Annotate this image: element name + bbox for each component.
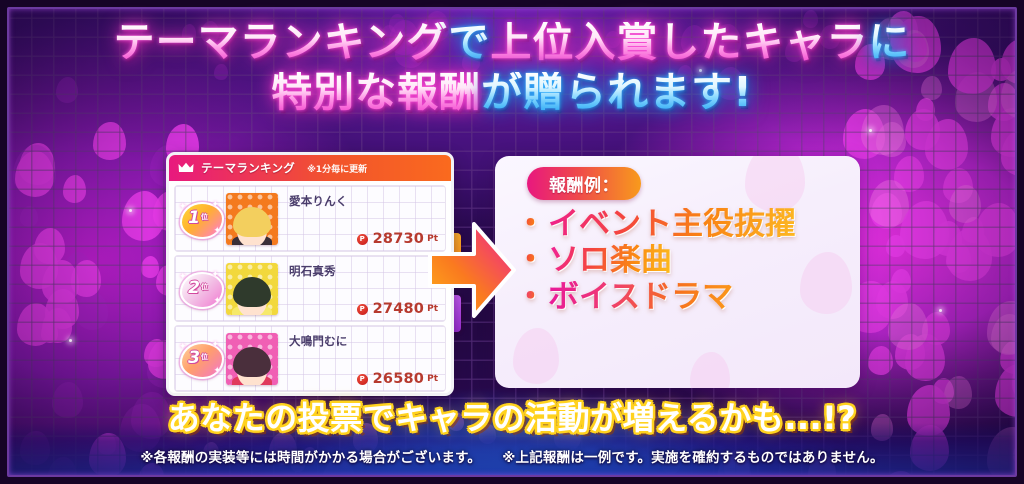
- reward-item-label: ソロ楽曲: [548, 244, 672, 277]
- character-name: 明石真秀: [278, 263, 445, 279]
- sparkle-icon: [69, 339, 72, 342]
- thumbnail-hair: [233, 207, 271, 237]
- sparkle-icon: [939, 309, 942, 312]
- rank-suffix: 位: [201, 352, 208, 362]
- points-group: P27480Pt: [357, 301, 438, 317]
- ranking-card-header: テーマランキング ※1分毎に更新: [169, 155, 451, 181]
- rank-suffix: 位: [201, 282, 208, 292]
- character-thumbnail[interactable]: [226, 263, 278, 315]
- reward-item-label: イベント主役抜擢: [548, 208, 796, 241]
- rank-number: 1: [188, 210, 200, 227]
- bullet-icon: ・: [515, 244, 546, 277]
- list-item: ・イベント主役抜擢: [515, 208, 850, 241]
- sparkle-icon: ✦: [211, 270, 219, 280]
- sparkle-icon: ✦: [213, 296, 221, 306]
- sparkle-icon: [869, 129, 872, 132]
- rank-badge: ✦✦✦3位: [177, 339, 223, 379]
- table-row[interactable]: ✦✦✦2位明石真秀P27480Pt: [174, 255, 446, 322]
- rank-badge: ✦✦✦2位: [177, 269, 223, 309]
- rank-number: 3: [188, 350, 200, 367]
- sparkle-icon: ✦: [179, 202, 187, 212]
- ranking-update-note: ※1分毎に更新: [307, 162, 367, 175]
- reward-example-label: 報酬例：: [549, 171, 619, 196]
- p-coin-icon: P: [357, 304, 368, 315]
- sparkle-icon: ✦: [213, 366, 221, 376]
- character-name: 大鳴門むに: [278, 333, 445, 349]
- footer-note-1: ※各報酬の実装等には時間がかかる場合がございます。: [140, 446, 481, 466]
- character-thumbnail[interactable]: [226, 193, 278, 245]
- crown-icon: [178, 162, 194, 174]
- bullet-icon: ・: [515, 208, 546, 241]
- sparkle-icon: ✦: [211, 340, 219, 350]
- catchphrase: あなたの投票でキャラの活動が増えるかも...!?: [0, 393, 1024, 439]
- points-unit: Pt: [427, 374, 438, 384]
- character-name: 愛本りんく: [278, 193, 445, 209]
- right-arrow-icon: [428, 218, 516, 322]
- thumbnail-hair: [233, 277, 271, 307]
- points-value: 28730: [373, 231, 424, 247]
- p-coin-icon: P: [357, 234, 368, 245]
- character-thumbnail[interactable]: [226, 333, 278, 385]
- petal-decoration: [513, 328, 559, 384]
- list-item: ・ボイスドラマ: [515, 281, 850, 314]
- rank-suffix: 位: [201, 212, 208, 222]
- rank-badge: ✦✦✦1位: [177, 199, 223, 239]
- ranking-row-list: ✦✦✦1位愛本りんくP28730Pt✦✦✦2位明石真秀P27480Pt✦✦✦3位…: [169, 181, 451, 396]
- sparkle-icon: ✦: [179, 342, 187, 352]
- points-value: 26580: [373, 371, 424, 387]
- points-value: 27480: [373, 301, 424, 317]
- promo-banner: テーマランキングで上位入賞したキャラに 特別な報酬が贈られます! テーマランキン…: [0, 0, 1024, 484]
- reward-item-list: ・イベント主役抜擢・ソロ楽曲・ボイスドラマ: [515, 208, 850, 317]
- table-row[interactable]: ✦✦✦3位大鳴門むにP26580Pt: [174, 325, 446, 392]
- footer-notes: ※各報酬の実装等には時間がかかる場合がございます。 ※上記報酬は一例です。実施を…: [0, 446, 1024, 466]
- footer-note-2: ※上記報酬は一例です。実施を確約するものではありません。: [502, 446, 883, 466]
- petal-decoration: [745, 156, 805, 212]
- table-row[interactable]: ✦✦✦1位愛本りんくP28730Pt: [174, 185, 446, 252]
- sparkle-icon: ✦: [179, 272, 187, 282]
- petal-decoration: [690, 352, 730, 388]
- points-group: P28730Pt: [357, 231, 438, 247]
- p-coin-icon: P: [357, 374, 368, 385]
- theme-ranking-card: テーマランキング ※1分毎に更新 ✦✦✦1位愛本りんくP28730Pt✦✦✦2位…: [166, 152, 454, 396]
- rank-number: 2: [188, 280, 200, 297]
- sparkle-icon: [699, 69, 702, 72]
- bullet-icon: ・: [515, 281, 546, 314]
- reward-item-label: ボイスドラマ: [548, 281, 733, 314]
- thumbnail-hair: [233, 347, 271, 377]
- sparkle-icon: ✦: [211, 200, 219, 210]
- reward-example-badge: 報酬例：: [527, 167, 641, 200]
- points-group: P26580Pt: [357, 371, 438, 387]
- reward-panel: 報酬例： ・イベント主役抜擢・ソロ楽曲・ボイスドラマ: [495, 156, 860, 388]
- sparkle-icon: ✦: [213, 226, 221, 236]
- sparkle-icon: [129, 209, 132, 212]
- list-item: ・ソロ楽曲: [515, 244, 850, 277]
- ranking-card-title: テーマランキング: [201, 160, 295, 176]
